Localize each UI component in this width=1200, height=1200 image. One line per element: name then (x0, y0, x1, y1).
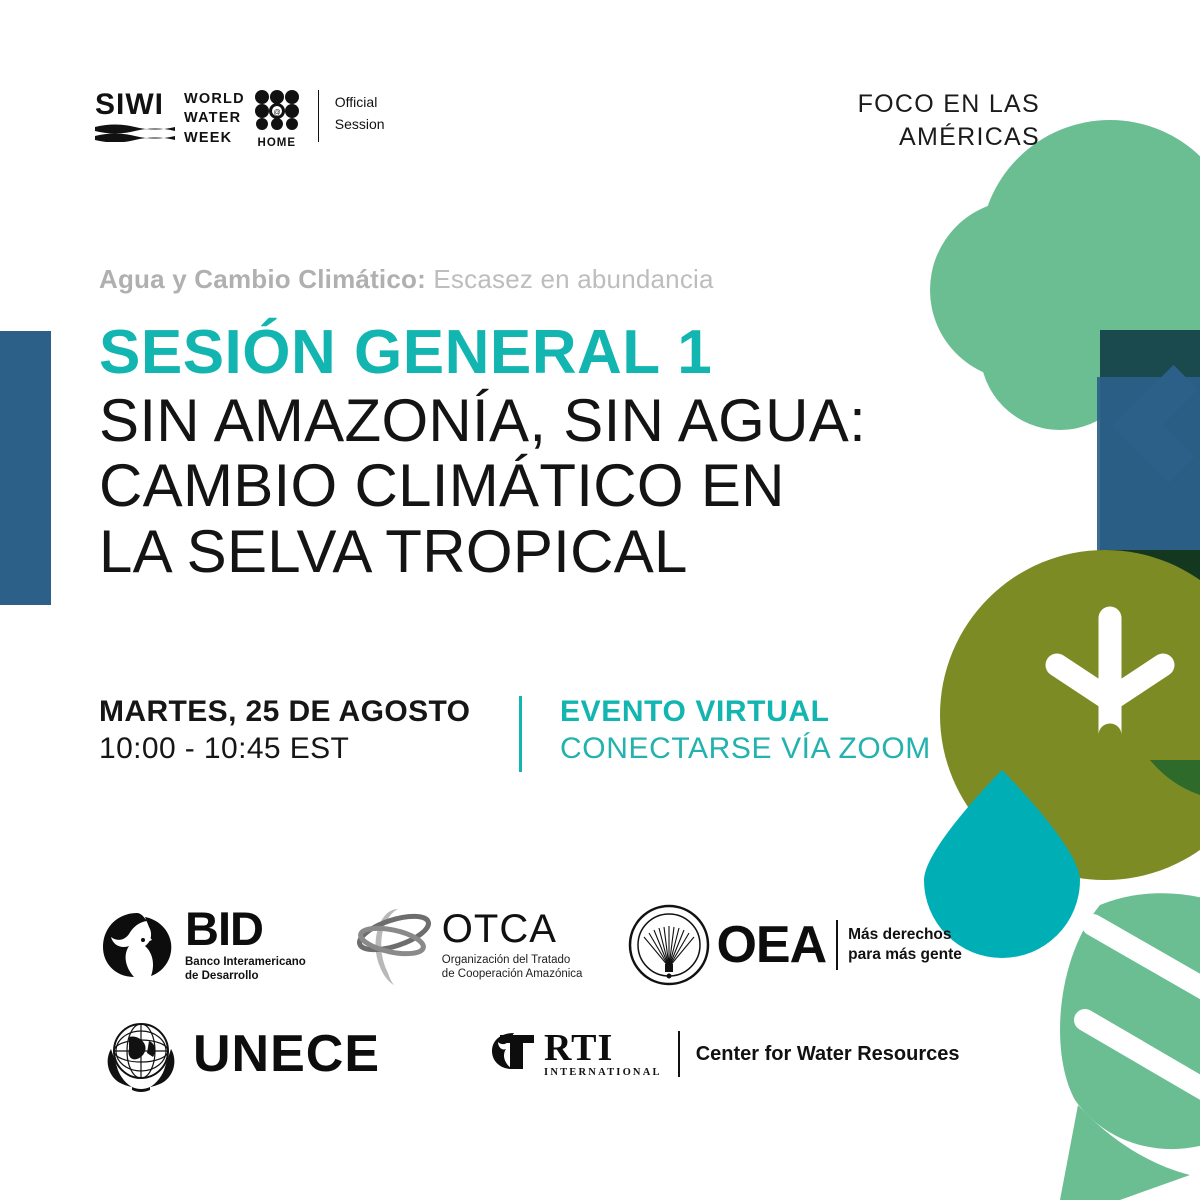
oea-tag-line-2: para más gente (848, 945, 962, 965)
title-block: SESIÓN GENERAL 1 SIN AMAZONÍA, SIN AGUA:… (99, 322, 866, 584)
arrow-notch (1112, 365, 1200, 483)
page-title: SIN AMAZONÍA, SIN AGUA: CAMBIO CLIMÁTICO… (99, 388, 866, 584)
siwi-acronym: SIWI (95, 90, 175, 120)
oea-seal-icon (628, 904, 710, 986)
rti-acronym: RTI (544, 1030, 662, 1066)
bid-emblem-icon (99, 909, 177, 981)
leaf-base-shadow (940, 760, 1200, 925)
siwi-waves-icon (95, 124, 175, 142)
oea-divider (836, 920, 838, 970)
bid-sub-line-1: Banco Interamericano (185, 955, 306, 969)
rti-logo[interactable]: RTI INTERNATIONAL Center for Water Resou… (490, 1029, 959, 1079)
event-meta: MARTES, 25 DE AGOSTO 10:00 - 10:45 EST E… (99, 694, 931, 772)
event-format: EVENTO VIRTUAL CONECTARSE VÍA ZOOM (560, 694, 931, 767)
title-line-1: SIN AMAZONÍA, SIN AGUA: (99, 388, 866, 453)
session-number-label: SESIÓN GENERAL 1 (99, 322, 866, 384)
poster-header: SIWI WORLD WATER WEEK (0, 0, 1200, 180)
unece-logo[interactable]: UNECE (99, 1015, 380, 1093)
poster-canvas: SIWI WORLD WATER WEEK (0, 0, 1200, 1200)
partner-logos-row-1: BID Banco Interamericano de Desarrollo O… (99, 903, 1008, 987)
title-line-3: LA SELVA TROPICAL (99, 519, 866, 584)
otca-text-block: OTCA Organización del Tratado de Coopera… (442, 909, 583, 982)
rti-tagline: Center for Water Resources (696, 1043, 960, 1066)
left-blue-bar (0, 331, 51, 605)
meta-divider (519, 696, 522, 772)
bid-sub-line-2: de Desarrollo (185, 969, 306, 983)
home-logo-group: @ HOME (254, 90, 300, 149)
rti-divider (678, 1031, 680, 1077)
event-time: 10:00 - 10:45 EST (99, 731, 519, 768)
www-line-3: WEEK (184, 129, 245, 148)
oea-tagline: Más derechos para más gente (848, 925, 962, 965)
bid-acronym: BID (185, 907, 306, 950)
olive-leaf-body (940, 550, 1200, 880)
un-emblem-icon (99, 1015, 183, 1093)
bid-subtitle: Banco Interamericano de Desarrollo (185, 955, 306, 983)
header-divider (318, 90, 319, 142)
rti-subtitle: INTERNATIONAL (544, 1067, 662, 1078)
www-line-2: WATER (184, 109, 245, 128)
otca-subtitle: Organización del Tratado de Cooperación … (442, 953, 583, 982)
home-wordmark: HOME (254, 137, 300, 149)
oea-tag-line-1: Más derechos (848, 925, 962, 945)
bid-logo[interactable]: BID Banco Interamericano de Desarrollo (99, 907, 306, 982)
event-datetime: MARTES, 25 DE AGOSTO 10:00 - 10:45 EST (99, 694, 519, 767)
siwi-world-water-week-logo[interactable]: SIWI WORLD WATER WEEK (95, 90, 385, 149)
www-line-1: WORLD (184, 90, 245, 109)
eyebrow-bold: Agua y Cambio Climático: (99, 264, 426, 294)
world-water-week-wordmark: WORLD WATER WEEK (184, 90, 245, 148)
dark-teal-block (1100, 330, 1200, 620)
siwi-mark: SIWI WORLD WATER WEEK (95, 90, 300, 149)
unece-acronym: UNECE (193, 1028, 380, 1080)
event-type-label: EVENTO VIRTUAL (560, 694, 931, 731)
svg-text:@: @ (273, 110, 280, 117)
event-join-link[interactable]: CONECTARSE VÍA ZOOM (560, 731, 931, 768)
official-line-2: Session (335, 114, 385, 136)
oea-acronym: OEA (716, 922, 826, 969)
blue-trunk-panel (1097, 377, 1200, 642)
event-date: MARTES, 25 DE AGOSTO (99, 694, 519, 731)
title-line-2: CAMBIO CLIMÁTICO EN (99, 453, 866, 518)
session-theme-eyebrow: Agua y Cambio Climático: Escasez en abun… (99, 264, 714, 295)
focus-line-1: FOCO EN LAS (858, 88, 1040, 121)
otca-sub-line-1: Organización del Tratado (442, 953, 583, 967)
home-dots-icon: @ (254, 90, 300, 130)
rti-mark-icon (490, 1029, 542, 1079)
otca-emblem-icon (352, 903, 438, 987)
bid-text-block: BID Banco Interamericano de Desarrollo (185, 907, 306, 982)
oea-logo[interactable]: OEA Más derechos para más gente (628, 904, 961, 986)
leaf-sliver (1150, 760, 1200, 801)
official-session-badge: Official Session (335, 90, 385, 135)
overlap-dark-green-block (1100, 550, 1200, 642)
monstera-leaf-shape (1060, 893, 1200, 1200)
official-line-1: Official (335, 92, 385, 114)
rti-text-block: RTI INTERNATIONAL (544, 1030, 662, 1078)
focus-region-label: FOCO EN LAS AMÉRICAS (858, 88, 1040, 154)
otca-logo[interactable]: OTCA Organización del Tratado de Coopera… (352, 903, 583, 987)
partner-logos-row-2: UNECE RTI INTERNATIONAL Center for Water… (99, 1015, 1005, 1093)
otca-acronym: OTCA (442, 909, 583, 949)
eyebrow-light: Escasez en abundancia (426, 264, 714, 294)
focus-line-2: AMÉRICAS (858, 121, 1040, 154)
tree-stem-glyph (1057, 618, 1163, 735)
otca-sub-line-2: de Cooperación Amazónica (442, 967, 583, 981)
